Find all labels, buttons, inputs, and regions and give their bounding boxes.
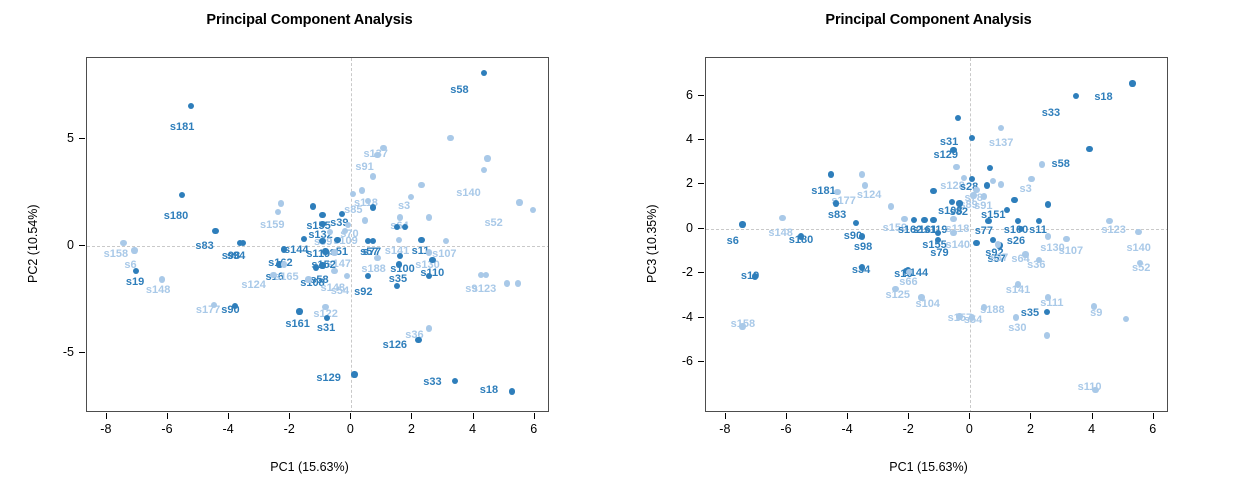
y-axis-tick-label: 0 [44, 238, 74, 252]
scatter-point [374, 152, 380, 158]
point-label: s19 [741, 271, 759, 282]
x-axis-tick-label: -6 [153, 422, 181, 436]
scatter-point [930, 217, 936, 223]
scatter-point [305, 276, 311, 282]
point-label: s111 [1040, 298, 1063, 309]
scatter-point [516, 199, 522, 205]
scatter-point [270, 272, 276, 278]
x-axis-tick [1092, 413, 1093, 419]
x-axis-tick-label: -2 [275, 422, 303, 436]
x-axis-tick-label: 0 [336, 422, 364, 436]
scatter-point [415, 337, 421, 343]
scatter-point [351, 371, 357, 377]
scatter-point [281, 261, 287, 267]
x-axis-tick-label: -2 [894, 422, 922, 436]
scatter-point [131, 247, 137, 253]
scatter-point [911, 217, 917, 223]
y-axis-tick-label: 4 [663, 132, 693, 146]
point-label: s83 [195, 241, 213, 252]
scatter-point [159, 276, 165, 282]
y-axis-tick [698, 317, 704, 318]
scatter-point [1129, 80, 1135, 86]
scatter-point [1045, 233, 1051, 239]
point-label: s124 [241, 280, 265, 291]
scatter-point [504, 280, 510, 286]
scatter-point [418, 237, 424, 243]
x-axis-tick [289, 413, 290, 419]
point-label: s118 [946, 224, 970, 235]
point-label: s33 [423, 377, 441, 388]
scatter-point [324, 315, 330, 321]
x-axis-tick-label: -8 [711, 422, 739, 436]
scatter-point [987, 165, 993, 171]
x-axis-tick [106, 413, 107, 419]
x-axis-tick [847, 413, 848, 419]
point-label: s3 [398, 201, 410, 212]
scatter-point [1044, 309, 1050, 315]
point-label: s148 [146, 285, 170, 296]
scatter-point [350, 191, 356, 197]
y-axis-tick-label: 5 [44, 131, 74, 145]
y-axis-title: PC3 (10.35%) [645, 204, 659, 283]
scatter-point [1073, 93, 1079, 99]
pca-panel-pc1-pc3: Principal Component Analysis s18s33s31s1… [619, 0, 1238, 500]
scatter-point [281, 246, 287, 252]
y-axis-tick-label: 6 [663, 88, 693, 102]
x-axis-title: PC1 (15.63%) [619, 460, 1238, 474]
scatter-point [370, 238, 376, 244]
scatter-point [950, 216, 956, 222]
point-label: s66 [899, 277, 917, 288]
point-label: s79 [930, 248, 948, 259]
point-label: s141 [1006, 285, 1030, 296]
point-label: s58 [1052, 159, 1070, 170]
scatter-point [275, 209, 281, 215]
y-axis-tick [698, 361, 704, 362]
scatter-point [1123, 316, 1129, 322]
point-label: s9 [1090, 308, 1102, 319]
x-axis-tick [969, 413, 970, 419]
y-axis-tick-label: -2 [663, 265, 693, 279]
point-label: s92 [354, 287, 372, 298]
x-axis-tick-label: 4 [1078, 422, 1106, 436]
point-label: s140 [946, 240, 970, 251]
scatter-point [984, 182, 990, 188]
scatter-point [331, 268, 337, 274]
scatter-point [429, 257, 435, 263]
point-label: s158 [731, 319, 755, 330]
scatter-point [1135, 229, 1141, 235]
point-label: s34 [852, 265, 870, 276]
point-label: s31 [317, 323, 335, 334]
scatter-point [1018, 226, 1024, 232]
scatter-point [779, 215, 785, 221]
scatter-point [859, 171, 865, 177]
point-label: s19 [126, 277, 144, 288]
scatter-point [955, 115, 961, 121]
x-axis-tick-label: 6 [520, 422, 548, 436]
x-axis-tick-label: -6 [772, 422, 800, 436]
point-label: s90 [221, 305, 239, 316]
panel-title-left: Principal Component Analysis [0, 12, 619, 28]
y-axis-tick [698, 95, 704, 96]
scatter-point [953, 164, 959, 170]
x-axis-tick-label: 2 [397, 422, 425, 436]
y-axis-tick-label: -6 [663, 354, 693, 368]
x-axis-tick [473, 413, 474, 419]
scatter-point [921, 217, 927, 223]
x-axis-tick-label: 6 [1139, 422, 1167, 436]
point-label: s26 [1007, 236, 1025, 247]
scatter-point [509, 388, 515, 394]
point-label: s36 [1027, 260, 1045, 271]
scatter-point [515, 280, 521, 286]
scatter-point [120, 240, 126, 246]
point-label: s107 [1059, 246, 1083, 257]
scatter-point [365, 273, 371, 279]
scatter-point [969, 135, 975, 141]
x-axis-tick [411, 413, 412, 419]
scatter-point [973, 240, 979, 246]
scatter-point [359, 187, 365, 193]
point-label: s110 [420, 268, 444, 279]
scatter-point [481, 167, 487, 173]
scatter-point [310, 203, 316, 209]
scatter-point [447, 135, 453, 141]
scatter-point [331, 249, 337, 255]
y-axis-tick-label: -4 [663, 310, 693, 324]
point-label: s125 [885, 290, 909, 301]
point-label: s98 [222, 251, 240, 262]
y-axis-tick [79, 245, 85, 246]
y-axis-tick [79, 138, 85, 139]
x-axis-tick-label: 0 [955, 422, 983, 436]
plot-box: s18s33s31s137s129s58s128s28s3s181s124s17… [705, 57, 1168, 412]
scatter-point [322, 248, 328, 254]
x-axis-title: PC1 (15.63%) [0, 460, 619, 474]
scatter-point [212, 228, 218, 234]
point-label: s37 [990, 253, 1008, 264]
point-label: s140 [456, 188, 480, 199]
point-label: s129 [934, 150, 958, 161]
point-label: s123 [1101, 225, 1125, 236]
point-label: s137 [989, 138, 1013, 149]
point-label: s83 [828, 210, 846, 221]
point-label: s9 [465, 284, 477, 295]
x-axis-tick [228, 413, 229, 419]
point-label: s180 [164, 211, 188, 222]
point-label: s140 [1126, 243, 1150, 254]
scatter-point [188, 103, 194, 109]
scatter-point [1044, 332, 1050, 338]
scatter-point [985, 218, 991, 224]
scatter-point [530, 207, 536, 213]
scatter-point [296, 308, 302, 314]
scatter-point [998, 181, 1004, 187]
scatter-point [319, 238, 325, 244]
scatter-point [344, 273, 350, 279]
scatter-point [301, 236, 307, 242]
x-axis-tick [1030, 413, 1031, 419]
point-label: s52 [1132, 263, 1150, 274]
x-axis-tick-label: -4 [833, 422, 861, 436]
scatter-point [970, 192, 976, 198]
x-axis-tick-label: 2 [1016, 422, 1044, 436]
y-axis-tick-label: 0 [663, 221, 693, 235]
point-label: s188 [980, 305, 1004, 316]
point-label: s77 [975, 226, 993, 237]
scatter-point [990, 178, 996, 184]
plot-box: s58s181s137s91s140s118s3s180s85s159s155s… [86, 57, 549, 412]
scatter-point [998, 125, 1004, 131]
panel-title-right: Principal Component Analysis [619, 12, 1238, 28]
y-axis-tick [698, 183, 704, 184]
point-label: s159 [260, 220, 284, 231]
scatter-point [853, 220, 859, 226]
point-label: s18 [480, 385, 498, 396]
scatter-point [278, 200, 284, 206]
scatter-point [394, 283, 400, 289]
point-label: s177 [196, 305, 220, 316]
scatter-point [481, 70, 487, 76]
point-label: s165 [274, 272, 298, 283]
scatter-point [1011, 197, 1017, 203]
scatter-point [452, 378, 458, 384]
scatter-point [1045, 201, 1051, 207]
scatter-point [443, 238, 449, 244]
scatter-point [1028, 176, 1034, 182]
pca-figure: Principal Component Analysis s58s181s137… [0, 0, 1238, 500]
y-axis-tick [698, 272, 704, 273]
scatter-point [426, 325, 432, 331]
x-axis-tick [167, 413, 168, 419]
point-label: s148 [768, 228, 792, 239]
scatter-point [739, 221, 745, 227]
y-axis-tick [79, 352, 85, 353]
point-label: s98 [854, 242, 872, 253]
x-axis-tick-label: -8 [92, 422, 120, 436]
scatter-point [1013, 314, 1019, 320]
x-axis-tick-label: 4 [459, 422, 487, 436]
point-label: s33 [1042, 108, 1060, 119]
scatter-point [397, 253, 403, 259]
scatter-point [1063, 236, 1069, 242]
point-label: s31 [940, 137, 958, 148]
scatter-point [396, 261, 402, 267]
scatter-point [888, 203, 894, 209]
point-label: s124 [857, 190, 881, 201]
point-label: s158 [104, 249, 128, 260]
x-axis-tick [908, 413, 909, 419]
scatter-point [1086, 146, 1092, 152]
scatter-point [484, 155, 490, 161]
y-axis-tick [698, 139, 704, 140]
scatter-point [319, 221, 325, 227]
scatter-point [319, 262, 325, 268]
reference-line-vertical [970, 58, 971, 412]
y-axis-tick [698, 228, 704, 229]
scatter-point [859, 233, 865, 239]
point-label: s161 [285, 319, 309, 330]
scatter-point [319, 212, 325, 218]
scatter-point [396, 237, 402, 243]
point-label: s126 [383, 340, 407, 351]
scatter-point [833, 200, 839, 206]
x-axis-tick [786, 413, 787, 419]
point-label: s30 [1008, 323, 1026, 334]
point-label: s58 [450, 85, 468, 96]
scatter-point [862, 182, 868, 188]
y-axis-tick-label: -5 [44, 345, 74, 359]
scatter-point [237, 240, 243, 246]
scatter-point [179, 192, 185, 198]
point-label: s104 [915, 299, 939, 310]
point-label: s6 [727, 236, 739, 247]
point-label: s54 [964, 315, 982, 326]
point-label: s110 [1078, 382, 1102, 393]
point-label: s181 [170, 122, 194, 133]
scatter-point [1039, 161, 1045, 167]
point-label: s144 [284, 245, 308, 256]
scatter-point [334, 237, 340, 243]
scatter-point [370, 204, 376, 210]
scatter-point [370, 173, 376, 179]
x-axis-tick [350, 413, 351, 419]
point-label: s3 [1019, 184, 1031, 195]
scatter-point [374, 255, 380, 261]
x-axis-tick [725, 413, 726, 419]
scatter-point [828, 171, 834, 177]
x-axis-tick-label: -4 [214, 422, 242, 436]
x-axis-tick [1153, 413, 1154, 419]
scatter-point [418, 182, 424, 188]
scatter-point [402, 224, 408, 230]
scatter-point [133, 268, 139, 274]
scatter-point [930, 188, 936, 194]
scatter-point [950, 230, 956, 236]
point-label: s18 [1094, 92, 1112, 103]
point-label: s148 [321, 283, 345, 294]
point-label: s129 [316, 373, 340, 384]
point-label: s91 [355, 162, 373, 173]
x-axis-tick [534, 413, 535, 419]
y-axis-title: PC2 (10.54%) [26, 204, 40, 283]
y-axis-tick-label: 2 [663, 176, 693, 190]
scatter-point [362, 217, 368, 223]
pca-panel-pc1-pc2: Principal Component Analysis s58s181s137… [0, 0, 619, 500]
point-label: s85 [344, 205, 362, 216]
point-label: s35 [1021, 308, 1039, 319]
point-label: s52 [484, 218, 502, 229]
scatter-point [995, 241, 1001, 247]
scatter-point [426, 214, 432, 220]
scatter-point [981, 193, 987, 199]
